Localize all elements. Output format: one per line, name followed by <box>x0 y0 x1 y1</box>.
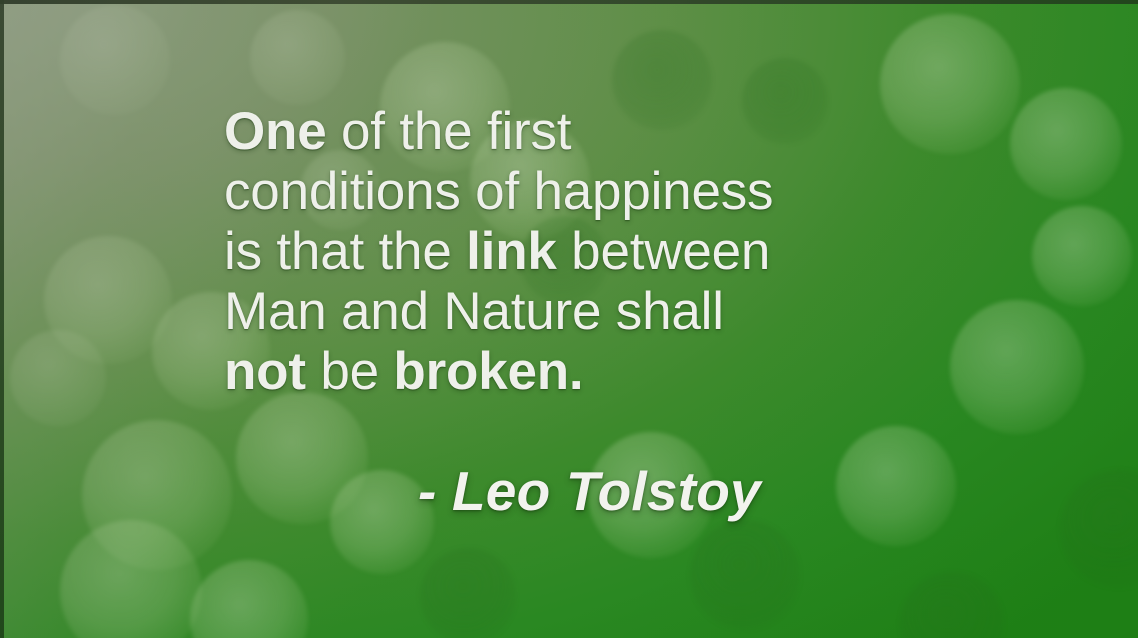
quote-line-1: One of the first <box>224 102 944 162</box>
emphasis-word: broken. <box>393 342 583 401</box>
quote-run: of the first <box>326 102 571 161</box>
quote-text-block: One of the first conditions of happiness… <box>224 102 944 402</box>
left-border <box>0 0 4 638</box>
quote-line-2: conditions of happiness <box>224 162 944 222</box>
quote-line-4: Man and Nature shall <box>224 282 944 342</box>
emphasis-word: not <box>224 342 306 401</box>
quote-line-5: not be broken. <box>224 342 944 402</box>
top-border <box>0 0 1138 4</box>
quote-run: conditions of happiness <box>224 162 773 221</box>
quote-run: be <box>306 342 394 401</box>
quote-run: Man and Nature shall <box>224 282 724 341</box>
emphasis-word: One <box>224 102 326 161</box>
quote-run: between <box>557 222 771 281</box>
quote-attribution: - Leo Tolstoy <box>418 460 761 522</box>
quote-run: is that the <box>224 222 466 281</box>
quote-card: One of the first conditions of happiness… <box>0 0 1138 638</box>
emphasis-word: link <box>466 222 557 281</box>
quote-line-3: is that the link between <box>224 222 944 282</box>
